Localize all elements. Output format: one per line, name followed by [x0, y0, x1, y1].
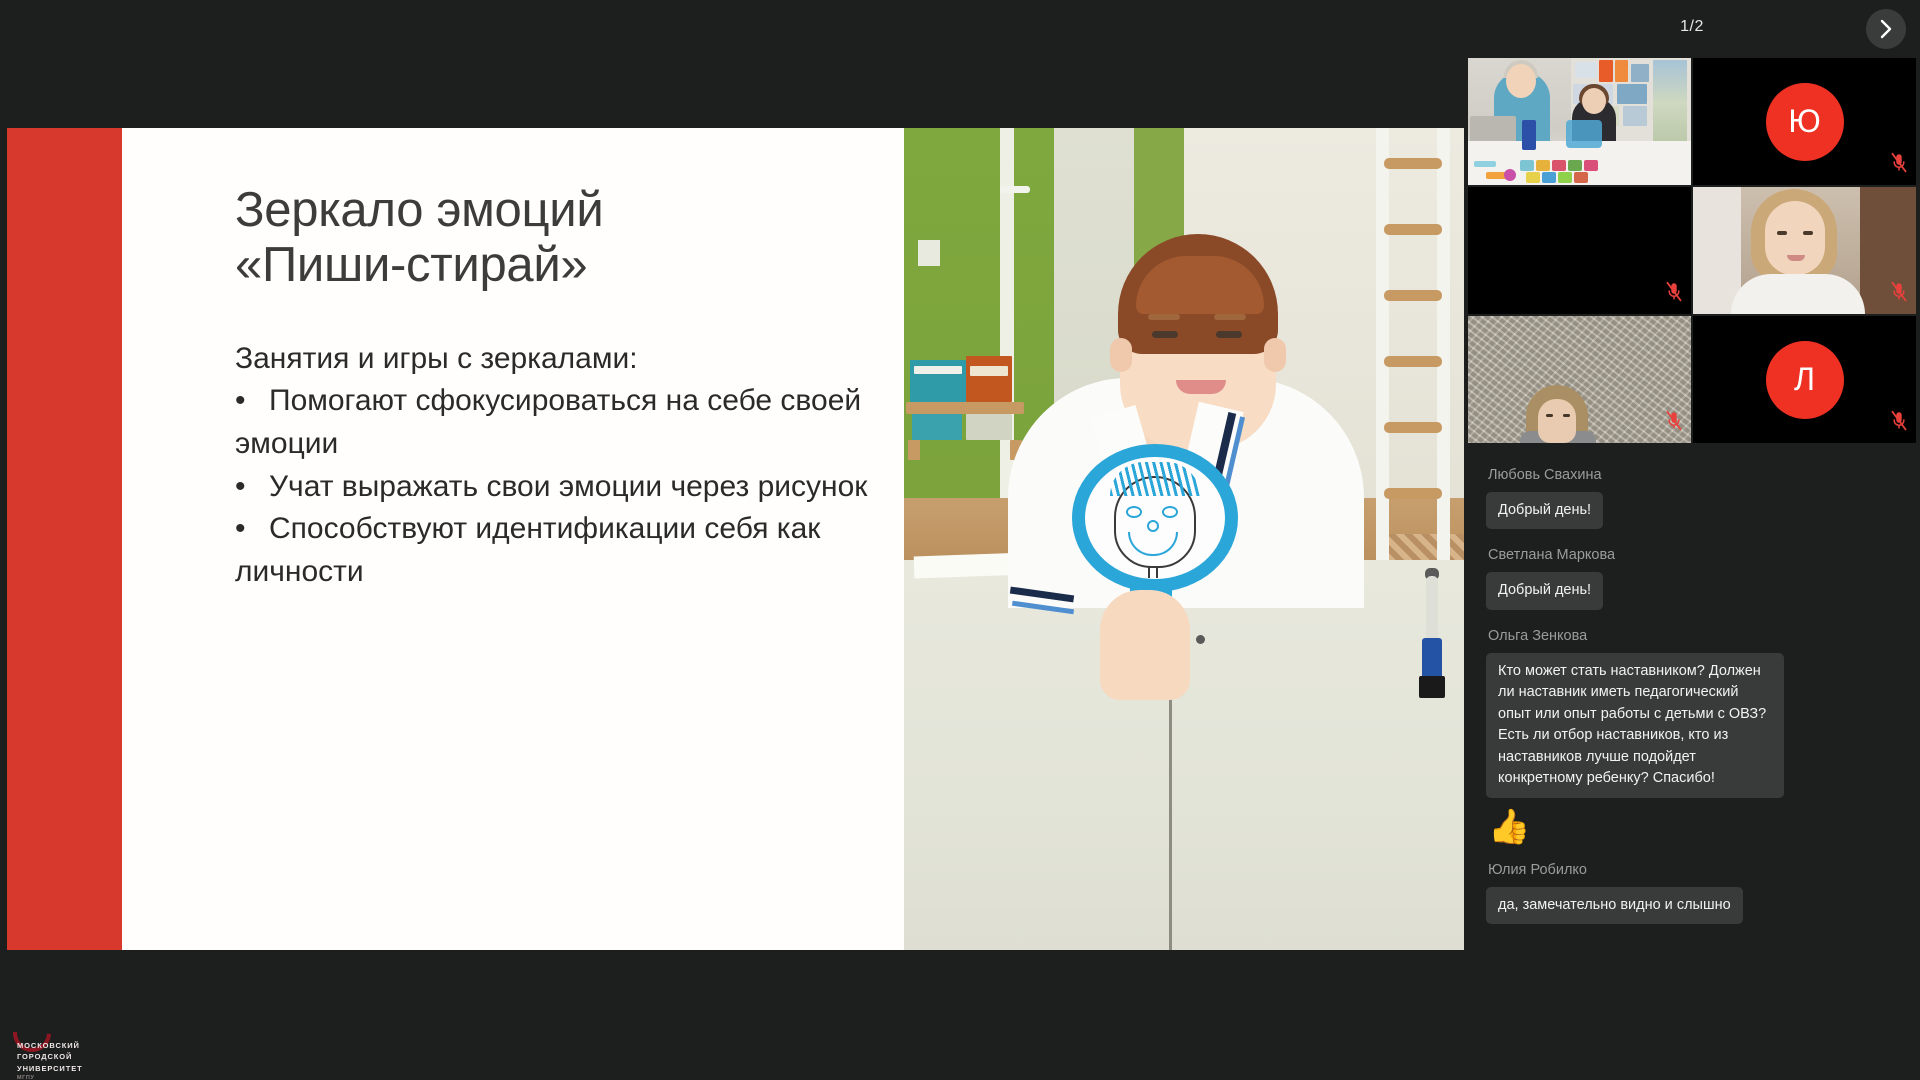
mic-muted-icon	[1890, 281, 1908, 308]
logo-line-2: ГОРОДСКОЙ	[17, 1051, 83, 1062]
tile-person-eye	[1546, 414, 1553, 417]
right-sidebar: 1/2	[1464, 0, 1920, 1080]
chat-bubble[interactable]: да, замечательно видно и слышно	[1486, 887, 1743, 924]
slide-bullet-item: •Способствуют идентификации себя как лич…	[235, 508, 915, 593]
bullet-marker-icon: •	[235, 380, 269, 423]
slide-bullet-text: Учат выражать свои эмоции через рисунок	[269, 470, 867, 503]
chat-author: Юлия Робилко	[1488, 862, 1898, 878]
slide-content: Зеркало эмоций «Пиши-стирай» Занятия и и…	[122, 128, 1464, 950]
chat-bubble[interactable]: Кто может стать наставником? Должен ли н…	[1486, 653, 1784, 798]
logo-line-3: УНИВЕРСИТЕТ	[17, 1063, 83, 1074]
chevron-right-icon	[1880, 19, 1893, 39]
photo-boy-hand	[1100, 590, 1190, 700]
chat-emoji-thumbs-up-icon[interactable]: 👍	[1488, 810, 1898, 844]
photo-marker-barrel	[1426, 576, 1438, 642]
slide-title: Зеркало эмоций «Пиши-стирай»	[235, 183, 915, 294]
slide-bullet-text: Помогают сфокусироваться на себе своей э…	[235, 384, 861, 460]
tile-person-2-head	[1582, 88, 1606, 114]
slide-bullet-text: Способствуют идентификации себя как личн…	[235, 512, 820, 588]
slide-bullet-item: •Учат выражать свои эмоции через рисунок	[235, 466, 915, 509]
photo-marker-eraser	[1419, 676, 1445, 698]
avatar: Л	[1766, 341, 1844, 419]
photo-boy-eyebrow	[1214, 314, 1246, 320]
page-indicator: 1/2	[1464, 18, 1920, 36]
tile-water-bowl	[1566, 120, 1602, 148]
chat-message-list[interactable]: Любовь Свахина Добрый день! Светлана Мар…	[1464, 443, 1920, 924]
participant-tile-avatar[interactable]: Л	[1693, 316, 1916, 443]
mgpu-logo: МОСКОВСКИЙ ГОРОДСКОЙ УНИВЕРСИТЕТ МГПУ	[11, 1020, 89, 1070]
tile-background-left	[1693, 187, 1741, 314]
tile-person-eye	[1777, 231, 1787, 235]
logo-line-4: МГПУ	[17, 1074, 83, 1080]
next-page-button[interactable]	[1866, 9, 1906, 49]
mic-muted-icon	[1890, 152, 1908, 179]
bullet-marker-icon: •	[235, 466, 269, 509]
photo-wall-ladder	[1376, 128, 1450, 568]
participant-tile-camera-off[interactable]	[1468, 187, 1691, 314]
slide-accent-bar	[7, 128, 122, 950]
chat-author: Любовь Свахина	[1488, 467, 1898, 483]
chat-bubble[interactable]: Добрый день!	[1486, 572, 1603, 609]
participants-pager: 1/2	[1464, 0, 1920, 58]
participant-tile-video-room[interactable]	[1468, 58, 1691, 185]
participant-tile-video-woman[interactable]	[1693, 187, 1916, 314]
logo-line-1: МОСКОВСКИЙ	[17, 1040, 83, 1051]
photo-marker-body	[1422, 638, 1442, 680]
avatar: Ю	[1766, 83, 1844, 161]
photo-boy-mouth	[1176, 380, 1226, 394]
meeting-screen-share-window: Зеркало эмоций «Пиши-стирай» Занятия и и…	[0, 0, 1920, 1080]
photo-boy-eyebrow	[1148, 314, 1180, 320]
tile-person-face	[1538, 399, 1576, 443]
mic-muted-icon	[1665, 410, 1683, 437]
chat-author: Светлана Маркова	[1488, 547, 1898, 563]
participant-tile-avatar[interactable]: Ю	[1693, 58, 1916, 185]
tile-person-eye	[1563, 414, 1570, 417]
participant-tiles-grid: Ю	[1464, 58, 1920, 443]
shared-screen-stage[interactable]: Зеркало эмоций «Пиши-стирай» Занятия и и…	[0, 0, 1464, 1080]
slide-photo-boy-with-mirror	[904, 128, 1464, 950]
photo-mirror-drawn-face	[1100, 458, 1210, 578]
slide-bullet-list: Занятия и игры с зеркалами: •Помогают сф…	[235, 338, 915, 594]
photo-book-shelf	[906, 350, 1026, 460]
photo-boy-ear	[1110, 338, 1132, 372]
tile-person-1-head	[1506, 64, 1536, 98]
photo-mirror-screw	[1196, 635, 1205, 644]
bullet-marker-icon: •	[235, 508, 269, 551]
tile-blue-cup	[1522, 120, 1536, 150]
chat-bubble[interactable]: Добрый день!	[1486, 492, 1603, 529]
photo-boy-eye	[1152, 331, 1178, 338]
participant-tile-video-girl[interactable]	[1468, 316, 1691, 443]
photo-light-switch	[918, 240, 940, 266]
photo-door-handle	[1000, 186, 1030, 193]
tile-person-eye	[1803, 231, 1813, 235]
mic-muted-icon	[1665, 281, 1683, 308]
mic-muted-icon	[1890, 410, 1908, 437]
photo-boy-eye	[1216, 331, 1242, 338]
photo-boy-ear	[1264, 338, 1286, 372]
slide-text-block: Зеркало эмоций «Пиши-стирай» Занятия и и…	[235, 183, 915, 593]
slide-lead-line: Занятия и игры с зеркалами:	[235, 338, 915, 381]
tile-person-hoodie	[1731, 274, 1865, 314]
chat-author: Ольга Зенкова	[1488, 628, 1898, 644]
slide-bullet-item: •Помогают сфокусироваться на себе своей …	[235, 380, 915, 465]
presentation-slide[interactable]: Зеркало эмоций «Пиши-стирай» Занятия и и…	[7, 128, 1464, 950]
logo-wordmark: МОСКОВСКИЙ ГОРОДСКОЙ УНИВЕРСИТЕТ МГПУ	[17, 1040, 83, 1080]
tile-person-face	[1765, 201, 1825, 275]
